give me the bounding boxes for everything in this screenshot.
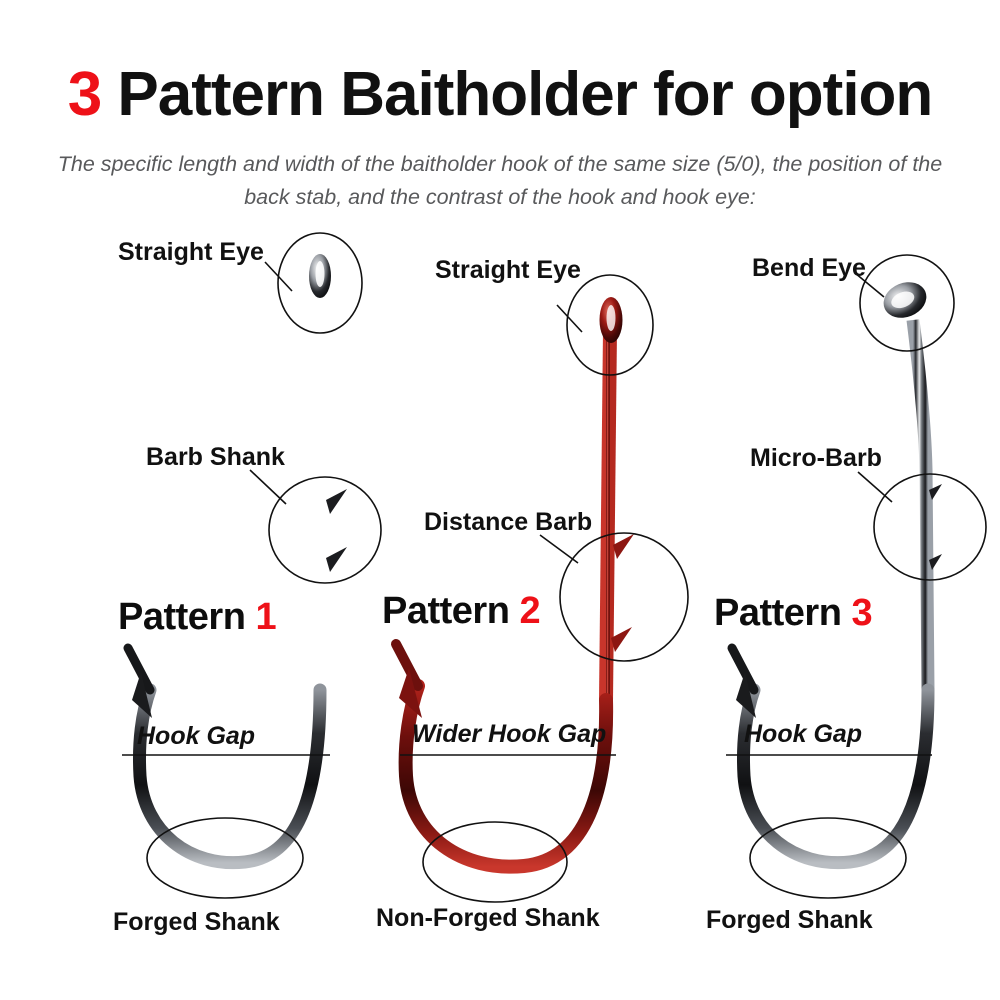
hook-1-pattern-word: Pattern xyxy=(118,596,245,638)
hook-1-shank-barb-upper xyxy=(326,489,347,514)
hook-2-eye-hole xyxy=(607,305,616,331)
hook-1-barb-label: Barb Shank xyxy=(146,445,285,470)
hook-1-bend xyxy=(139,690,320,863)
hook-3-shank-label: Forged Shank xyxy=(706,908,873,933)
hook-3-shank xyxy=(913,320,928,690)
hook-1-annotations xyxy=(122,233,381,898)
hook-pattern-1 xyxy=(128,254,347,863)
hook-3-barb-label: Micro-Barb xyxy=(750,446,882,471)
hook-1-eye-label: Straight Eye xyxy=(118,240,264,265)
hook-2-barb-leader xyxy=(540,535,578,563)
hook-3-bend xyxy=(743,690,928,863)
hook-3-pattern-label: Pattern 3 xyxy=(714,594,872,632)
hook-1-gap-label: Hook Gap xyxy=(137,724,255,749)
hook-2-shank-barb-lower xyxy=(611,627,632,652)
hook-3-gap-label: Hook Gap xyxy=(744,722,862,747)
hook-2-pattern-word: Pattern xyxy=(382,590,509,632)
hook-3-pattern-number: 3 xyxy=(851,592,872,634)
hook-3-eye-group xyxy=(878,276,932,324)
hook-2-barb-label: Distance Barb xyxy=(424,510,592,535)
hook-2-shank xyxy=(606,330,610,700)
hook-3-barb-leader xyxy=(858,472,892,502)
hook-2-shank-label: Non-Forged Shank xyxy=(376,906,600,931)
hook-pattern-3 xyxy=(732,276,942,863)
infographic-canvas: 3 Pattern Baitholder for option The spec… xyxy=(0,0,1000,1000)
hook-2-annotations xyxy=(400,275,688,902)
hook-1-shank-barb-lower xyxy=(326,547,347,572)
hook-2-barb-circle xyxy=(560,533,688,661)
hook-2-gap-label: Wider Hook Gap xyxy=(412,722,606,747)
hook-3-eye-label: Bend Eye xyxy=(752,256,866,281)
hook-1-pattern-number: 1 xyxy=(255,596,276,638)
hook-2-pattern-number: 2 xyxy=(519,590,540,632)
hook-3-pattern-word: Pattern xyxy=(714,592,841,634)
hook-1-shank-label: Forged Shank xyxy=(113,910,280,935)
hook-2-eye-label: Straight Eye xyxy=(435,258,581,283)
hook-pattern-2 xyxy=(396,297,634,867)
hook-2-pattern-label: Pattern 2 xyxy=(382,592,540,630)
hook-diagram-artwork xyxy=(0,0,1000,1000)
hook-1-eye-hole xyxy=(316,261,325,287)
hook-1-barb-leader xyxy=(250,470,286,504)
hook-2-shank-barb-upper xyxy=(613,534,634,559)
hook-3-annotations xyxy=(726,255,986,898)
hook-1-pattern-label: Pattern 1 xyxy=(118,598,276,636)
